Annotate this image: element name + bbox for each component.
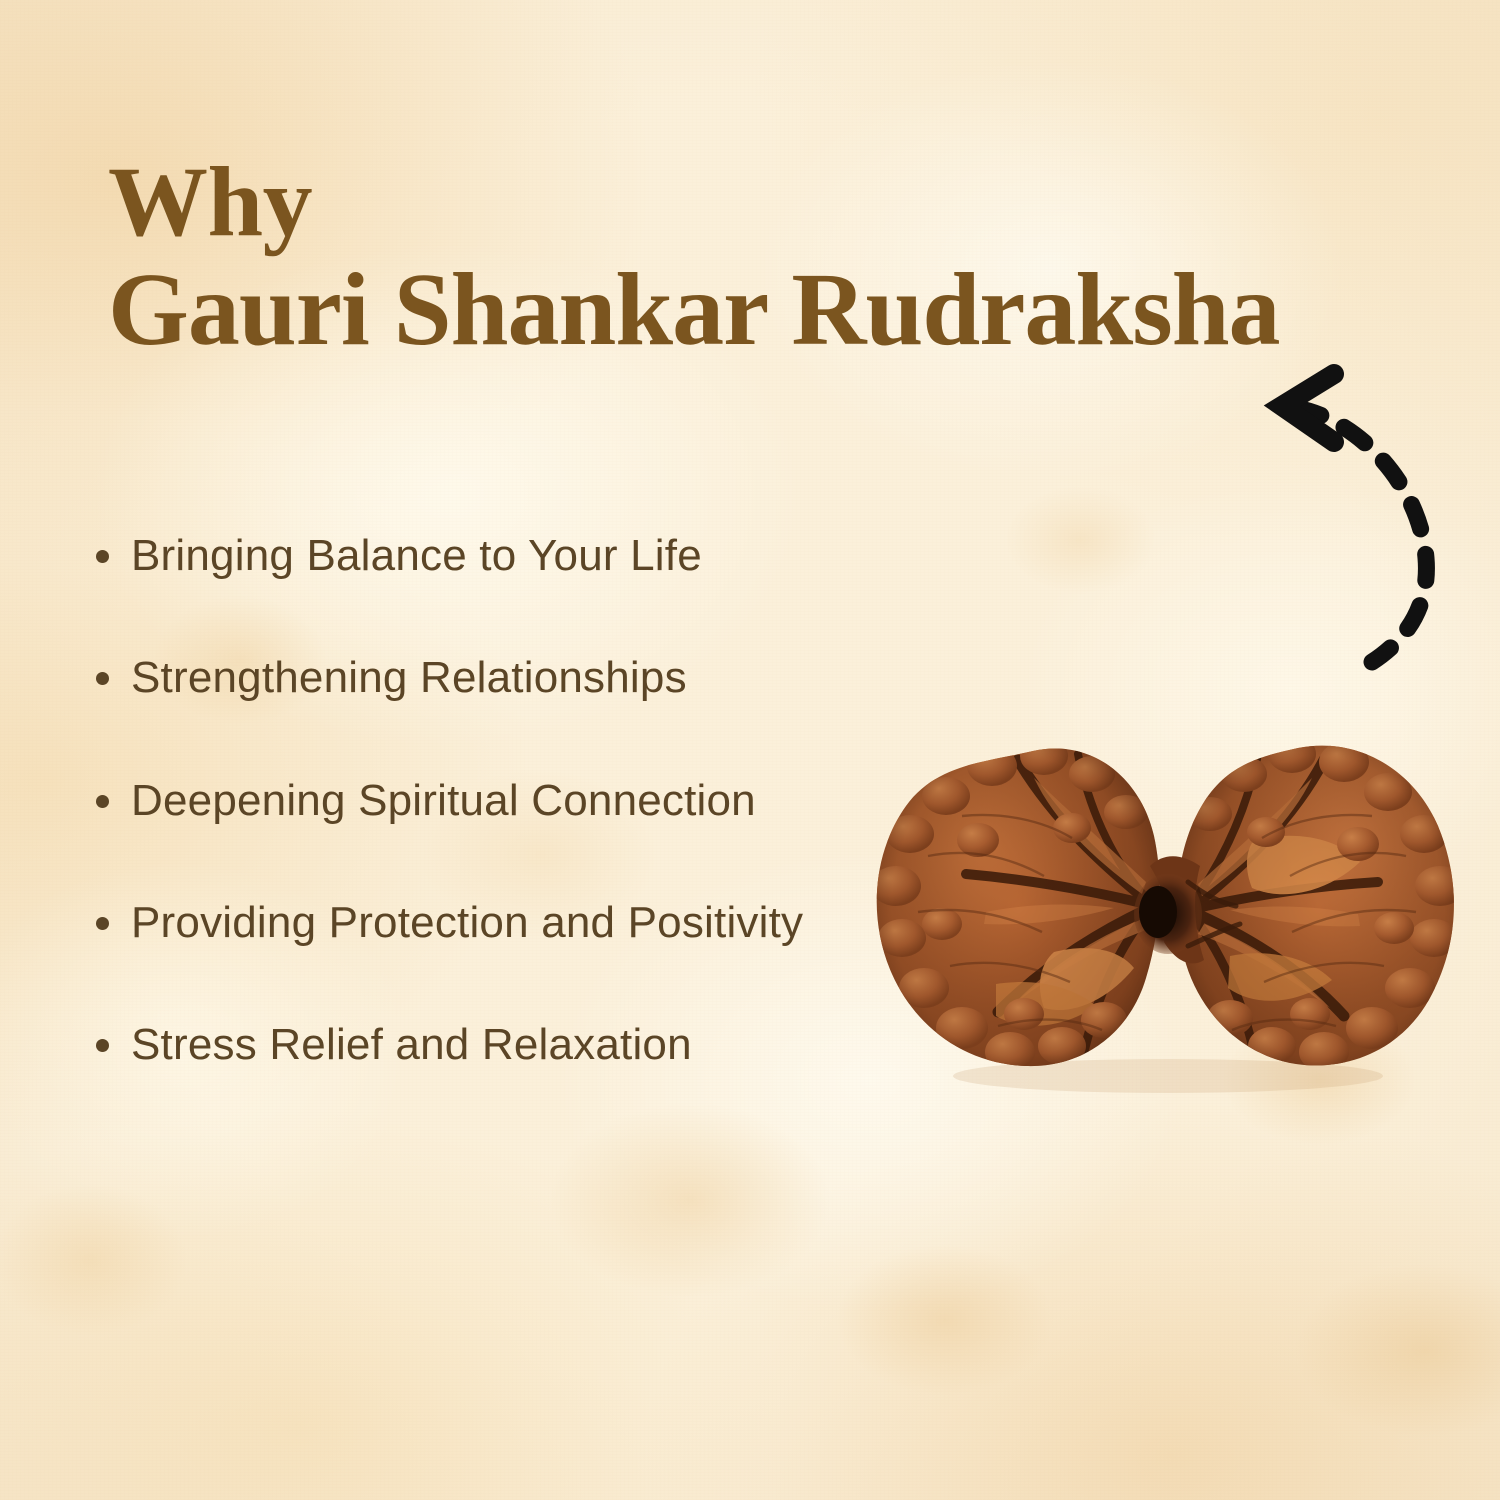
curved-dashed-arrow-icon: [1248, 362, 1488, 672]
benefit-label: Providing Protection and Positivity: [131, 895, 886, 951]
bullet-dot-icon: [96, 672, 109, 685]
poster-canvas: Why Gauri Shankar Rudraksha Bringing Bal…: [0, 0, 1500, 1500]
bullet-dot-icon: [96, 795, 109, 808]
bullet-dot-icon: [96, 917, 109, 930]
list-item: Stress Relief and Relaxation: [96, 1017, 886, 1073]
benefit-label: Stress Relief and Relaxation: [131, 1017, 886, 1073]
bullet-dot-icon: [96, 1039, 109, 1052]
list-item: Providing Protection and Positivity: [96, 895, 886, 951]
benefit-label: Strengthening Relationships: [131, 650, 886, 706]
page-title: Why Gauri Shankar Rudraksha: [108, 149, 1458, 365]
page-title-line-2: Gauri Shankar Rudraksha: [108, 255, 1458, 365]
benefit-label: Bringing Balance to Your Life: [131, 528, 886, 584]
benefits-list: Bringing Balance to Your Life Strengthen…: [96, 528, 886, 1074]
benefit-label: Deepening Spiritual Connection: [131, 773, 886, 829]
list-item: Deepening Spiritual Connection: [96, 773, 886, 829]
page-title-line-1: Why: [108, 149, 1458, 255]
gauri-shankar-rudraksha-bead-image: [858, 716, 1478, 1096]
bullet-dot-icon: [96, 550, 109, 563]
list-item: Strengthening Relationships: [96, 650, 886, 706]
list-item: Bringing Balance to Your Life: [96, 528, 886, 584]
